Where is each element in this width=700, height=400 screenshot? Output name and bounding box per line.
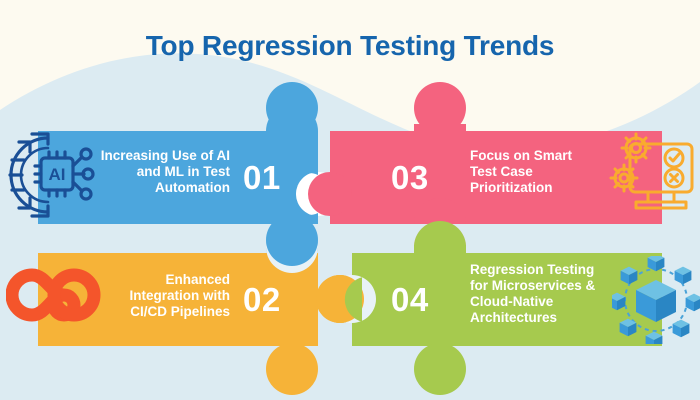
piece-02-bottom-tab: [266, 343, 318, 395]
piece-04-number: 04: [391, 283, 429, 316]
piece-01-text: Increasing Use of AI and ML in Test Auto…: [60, 148, 230, 196]
piece-02-text: Enhanced Integration with CI/CD Pipeline…: [60, 272, 230, 320]
piece-01-top-tab: [266, 82, 318, 134]
infographic-canvas: Top Regression Testing Trends: [0, 0, 700, 400]
piece-01-number: 01: [243, 161, 281, 194]
piece-04-bottom-tab: [414, 343, 466, 395]
puzzle-group: [0, 0, 700, 400]
piece-03-left-tab: [308, 172, 352, 216]
piece-02-number: 02: [243, 283, 281, 316]
piece-03-number: 03: [391, 161, 429, 194]
piece-03-text: Focus on Smart Test Case Prioritization: [470, 148, 645, 196]
piece-04-text: Regression Testing for Microservices & C…: [470, 262, 650, 326]
